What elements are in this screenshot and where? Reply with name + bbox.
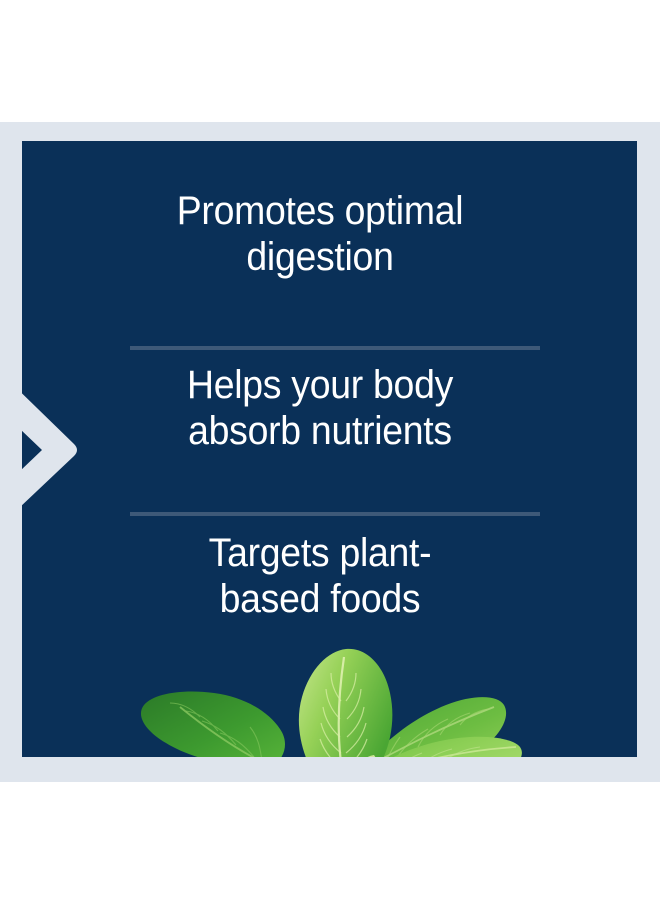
chevron-right-icon <box>0 366 82 532</box>
benefit-item-3: Targets plant- based foods <box>124 531 517 622</box>
benefit-item-2: Helps your body absorb nutrients <box>124 363 517 454</box>
benefits-panel: Promotes optimal digestion Helps your bo… <box>22 141 637 757</box>
divider-1 <box>130 346 540 350</box>
divider-2 <box>130 512 540 516</box>
leaf-left <box>141 692 285 758</box>
benefit-item-1: Promotes optimal digestion <box>124 189 517 280</box>
green-leaves-image <box>122 641 542 757</box>
leaf-center <box>299 649 393 757</box>
